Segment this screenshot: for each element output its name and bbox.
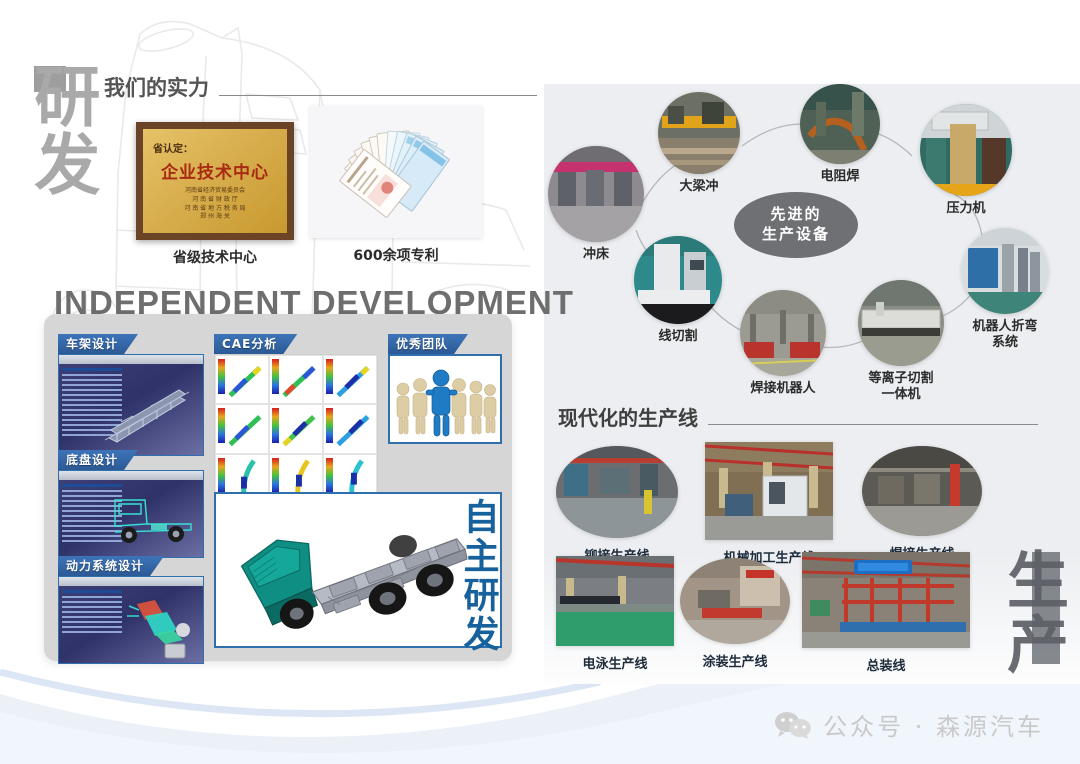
production-line-welding[interactable]: 焊接生产线 [862,446,982,562]
cad-viewport [59,364,203,455]
wechat-icon [773,711,813,739]
equipment-label: 大梁冲 [658,179,740,195]
equipment-label: 机器人折弯 系统 [962,319,1048,352]
patent-certificates-fan [321,116,471,228]
equipment-node-plasma-cutting-combo[interactable]: 等离子切割 一体机 [858,280,944,404]
plaque-issuer-2: 河 南 省 财 政 厅 [192,196,238,205]
equipment-node-punch-press[interactable]: 冲床 [548,146,644,263]
production-watermark: 生产 [1002,548,1062,676]
honor-caption: 600余项专利 [310,245,482,265]
card-cae-analysis-grid [214,354,378,504]
patent-photo [310,106,482,238]
equipment-node-beam-stamping[interactable]: 大梁冲 [658,92,740,195]
production-line-photo [862,446,982,536]
card-frame-design-window [58,354,204,456]
production-line-photo [705,442,833,540]
wheel-center-line2: 生产设备 [762,225,830,245]
slide-canvas: 研发 生产 我们的实力 INDEPENDENT DEVELOPMENT 现代化的… [0,0,1080,764]
cae-plot [323,355,377,404]
card-powertrain-design-label: 动力系统设计 [58,556,164,576]
production-line-photo [556,446,678,538]
production-line-riveting[interactable]: 铆接生产线 [556,446,678,564]
equipment-node-wire-cutting[interactable]: 线切割 [634,236,722,345]
plaque-frame: 省认定： 企业技术中心 河南省经济贸易委员会 河 南 省 财 政 厅 河 南 省… [136,122,294,240]
equipment-photo [740,290,826,376]
equipment-photo [548,146,644,242]
heading-rule [219,95,537,96]
cad-viewport [59,586,203,663]
cad-menubar [59,355,203,364]
heading-our-strength-text: 我们的实力 [104,72,209,102]
plaque-issuer-1: 河南省经济贸易委员会 [185,187,245,196]
advanced-equipment-wheel: 先进的 生产设备 大梁冲 [544,84,1080,404]
heading-rule [708,424,1038,425]
powertrain-3d-model [59,586,204,664]
card-excellent-team-label: 优秀团队 [388,334,468,354]
truck-chassis-3d-model [223,500,493,640]
plaque-face: 省认定： 企业技术中心 河南省经济贸易委员会 河 南 省 财 政 厅 河 南 省… [143,129,287,233]
honor-patents: 600余项专利 [310,106,482,265]
cae-plot [269,355,323,404]
production-line-label: 总装线 [802,655,970,674]
cae-plot [323,404,377,453]
equipment-photo [658,92,740,174]
cad-viewport [59,480,203,557]
plaque-top-text: 省认定： [153,140,193,155]
cae-plot [215,355,269,404]
heading-modern-production-line: 现代化的生产线 [558,402,1038,431]
production-line-photo [556,556,674,646]
equipment-node-robot-bending-system[interactable]: 机器人折弯 系统 [962,228,1048,352]
frame-3d-model [59,364,204,456]
production-line-photo [802,552,970,648]
card-frame-design[interactable]: 车架设计 [58,334,204,456]
honor-provincial-tech-center: 省认定： 企业技术中心 河南省经济贸易委员会 河 南 省 财 政 厅 河 南 省… [136,122,294,267]
card-chassis-design-window [58,470,204,558]
equipment-photo [920,104,1012,196]
plaque-issuer-4: 郑 州 海 关 [200,213,230,222]
equipment-label: 焊接机器人 [740,381,826,397]
footer-text: 公众号 · 森源汽车 [823,707,1044,742]
heading-our-strength: 我们的实力 [104,72,537,102]
rd-watermark: 研发 [30,62,93,198]
wheel-center-label: 先进的 生产设备 [734,192,858,258]
cae-plot [215,404,269,453]
equipment-node-welding-robot[interactable]: 焊接机器人 [740,290,826,397]
equipment-label: 电阻焊 [800,169,880,185]
equipment-node-press-machine[interactable]: 压力机 [920,104,1012,217]
card-cae-analysis[interactable]: CAE分析 [214,334,378,504]
production-line-machining[interactable]: 机械加工生产线 [705,442,833,566]
footer-credit: 公众号 · 森源汽车 [773,707,1044,742]
production-line-ecoat[interactable]: 电泳生产线 [556,556,674,672]
equipment-label: 线切割 [634,329,722,345]
wheel-center-line1: 先进的 [770,205,821,225]
cae-plot [269,404,323,453]
card-cae-analysis-label: CAE分析 [214,334,297,354]
card-chassis-design[interactable]: 底盘设计 [58,450,204,558]
cad-menubar [59,471,203,480]
equipment-label: 等离子切割 一体机 [858,371,944,404]
vertical-independent-rd-text: 自主研发 [456,498,498,654]
equipment-label: 冲床 [548,247,644,263]
production-line-photo [680,558,790,644]
chassis-3d-model [59,480,204,558]
cad-menubar [59,577,203,586]
card-powertrain-design-window [58,576,204,664]
equipment-photo [634,236,722,324]
card-powertrain-design[interactable]: 动力系统设计 [58,556,204,664]
production-line-label: 涂装生产线 [680,651,790,670]
plaque-main-text: 企业技术中心 [161,158,269,183]
equipment-photo [962,228,1048,314]
equipment-label: 压力机 [920,201,1012,217]
plaque-issuer-3: 河 南 省 地 方 税 务 局 [184,205,245,214]
card-frame-design-label: 车架设计 [58,334,138,354]
equipment-node-resistance-welding[interactable]: 电阻焊 [800,84,880,185]
equipment-photo [858,280,944,366]
production-line-assembly[interactable]: 总装线 [802,552,970,674]
equipment-photo [800,84,880,164]
card-excellent-team-photo [388,354,502,444]
production-line-label: 电泳生产线 [556,653,674,672]
honor-caption: 省级技术中心 [136,247,294,267]
heading-modern-production-line-text: 现代化的生产线 [558,402,698,431]
card-chassis-design-label: 底盘设计 [58,450,138,470]
card-excellent-team[interactable]: 优秀团队 [388,334,502,444]
team-figures [391,366,499,442]
production-line-painting[interactable]: 涂装生产线 [680,558,790,670]
